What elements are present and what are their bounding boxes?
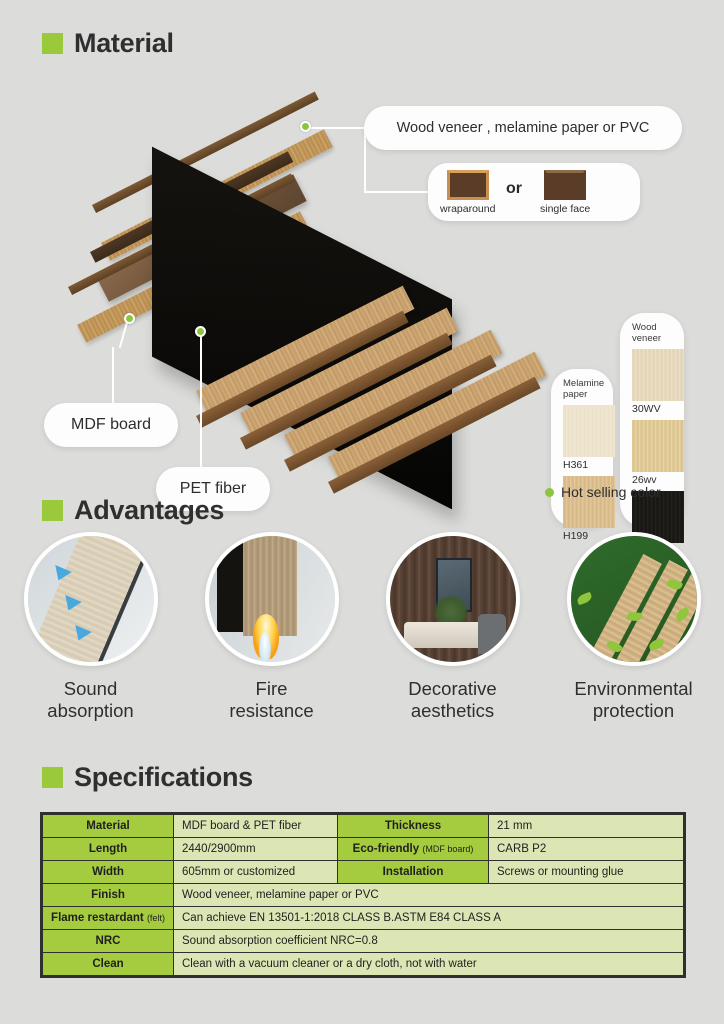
spec-key: Material [43, 815, 173, 837]
section-marker-square [42, 500, 63, 521]
table-row: Material MDF board & PET fiber Thickness… [43, 815, 683, 837]
spec-value: Clean with a vacuum cleaner or a dry clo… [174, 953, 683, 975]
single-face-label: single face [540, 203, 590, 215]
advantage-caption: Environmental protection [574, 678, 692, 722]
acoustic-board-shape [27, 532, 146, 666]
spec-key-note: (felt) [147, 913, 165, 923]
sound-absorption-illustration [28, 536, 154, 662]
advantage-fire-resistance: Fire resistance [181, 532, 362, 722]
table-row: NRC Sound absorption coefficient NRC=0.8 [43, 930, 683, 952]
spec-key: Eco-friendly (MDF board) [338, 838, 488, 860]
spec-value: Screws or mounting glue [489, 861, 683, 883]
swatch-h361[interactable] [563, 405, 615, 457]
section-title: Specifications [74, 762, 253, 793]
advantage-image-sound-absorption [24, 532, 158, 666]
table-row: Width 605mm or customized Installation S… [43, 861, 683, 883]
wraparound-chip [447, 170, 489, 200]
leaf-icon [575, 592, 592, 606]
swatch-card-header: Wood veneer [632, 323, 672, 344]
spec-key: Installation [338, 861, 488, 883]
swatch-card-melamine-paper: Melamine paper H361 H199 [551, 369, 613, 527]
spec-value: Sound absorption coefficient NRC=0.8 [174, 930, 683, 952]
leader-line-wrap [364, 191, 428, 193]
specifications-table: Material MDF board & PET fiber Thickness… [40, 812, 686, 978]
spec-value: 21 mm [489, 815, 683, 837]
section-marker-square [42, 767, 63, 788]
leader-line-veneer [306, 127, 366, 129]
leader-line-pet [200, 332, 202, 468]
interior-room-illustration [390, 536, 516, 662]
spec-key: Thickness [338, 815, 488, 837]
spec-value: 2440/2900mm [174, 838, 337, 860]
advantages-row: Sound absorption Fire resistance Decorat… [0, 532, 724, 722]
spec-value: Wood veneer, melamine paper or PVC [174, 884, 683, 906]
advantage-caption: Sound absorption [47, 678, 133, 722]
swatch-30wv[interactable] [632, 349, 684, 401]
spec-key: Finish [43, 884, 173, 906]
section-heading-advantages: Advantages [42, 495, 224, 526]
spec-key: NRC [43, 930, 173, 952]
swatch-label-30wv: 30WV [632, 403, 672, 415]
spec-key: Width [43, 861, 173, 883]
table-row: Finish Wood veneer, melamine paper or PV… [43, 884, 683, 906]
fire-resistance-illustration [209, 536, 335, 662]
spec-value: Can achieve EN 13501-1:2018 CLASS B.ASTM… [174, 907, 683, 929]
anchor-dot-veneer [300, 121, 311, 132]
leader-line-mdf-vertical [112, 347, 114, 405]
single-face-chip [544, 170, 586, 200]
advantage-caption: Fire resistance [229, 678, 313, 722]
advantage-image-environmental-protection [567, 532, 701, 666]
spec-key: Clean [43, 953, 173, 975]
hot-selling-label: Hot selling color [561, 484, 661, 500]
table-row: Flame restardant (felt) Can achieve EN 1… [43, 907, 683, 929]
eco-panel-illustration [571, 536, 697, 662]
spec-value: 605mm or customized [174, 861, 337, 883]
callout-wrap-options: wraparound or single face [428, 163, 640, 221]
swatch-card-header: Melamine paper [563, 379, 601, 400]
section-heading-specifications: Specifications [42, 762, 253, 793]
plant-decor [434, 594, 468, 624]
advantage-caption: Decorative aesthetics [408, 678, 496, 722]
anchor-dot-pet [195, 326, 206, 337]
section-title: Advantages [74, 495, 224, 526]
anchor-dot-mdf [124, 313, 135, 324]
wraparound-option: wraparound [440, 170, 495, 215]
hot-selling-color-legend: Hot selling color [545, 484, 661, 500]
callout-wood-veneer: Wood veneer , melamine paper or PVC [364, 106, 682, 150]
or-separator-label: or [506, 180, 522, 198]
section-marker-square [42, 33, 63, 54]
spec-key-note: (MDF board) [422, 844, 473, 854]
advantage-image-decorative-aesthetics [386, 532, 520, 666]
advantage-sound-absorption: Sound absorption [0, 532, 181, 722]
wraparound-label: wraparound [440, 203, 495, 215]
advantage-image-fire-resistance [205, 532, 339, 666]
spec-value: MDF board & PET fiber [174, 815, 337, 837]
swatch-label-h361: H361 [563, 459, 601, 471]
table-row: Length 2440/2900mm Eco-friendly (MDF boa… [43, 838, 683, 860]
spec-key: Flame restardant (felt) [43, 907, 173, 929]
hot-selling-dot-icon [545, 488, 554, 497]
advantage-decorative-aesthetics: Decorative aesthetics [362, 532, 543, 722]
single-face-option: single face [540, 170, 590, 215]
material-exploded-diagram: Wood veneer , melamine paper or PVC MDF … [0, 55, 724, 475]
spec-key: Length [43, 838, 173, 860]
advantage-environmental-protection: Environmental protection [543, 532, 724, 722]
spec-key-main: Eco-friendly [353, 843, 419, 855]
spec-key-main: Flame restardant [51, 912, 144, 924]
dining-table [404, 622, 490, 648]
flame-core-icon [259, 632, 271, 666]
spec-value: CARB P2 [489, 838, 683, 860]
table-row: Clean Clean with a vacuum cleaner or a d… [43, 953, 683, 975]
callout-mdf-board: MDF board [44, 403, 178, 447]
swatch-26wv[interactable] [632, 420, 684, 472]
dining-chair [478, 614, 506, 654]
panel-dark-edge [217, 536, 243, 632]
